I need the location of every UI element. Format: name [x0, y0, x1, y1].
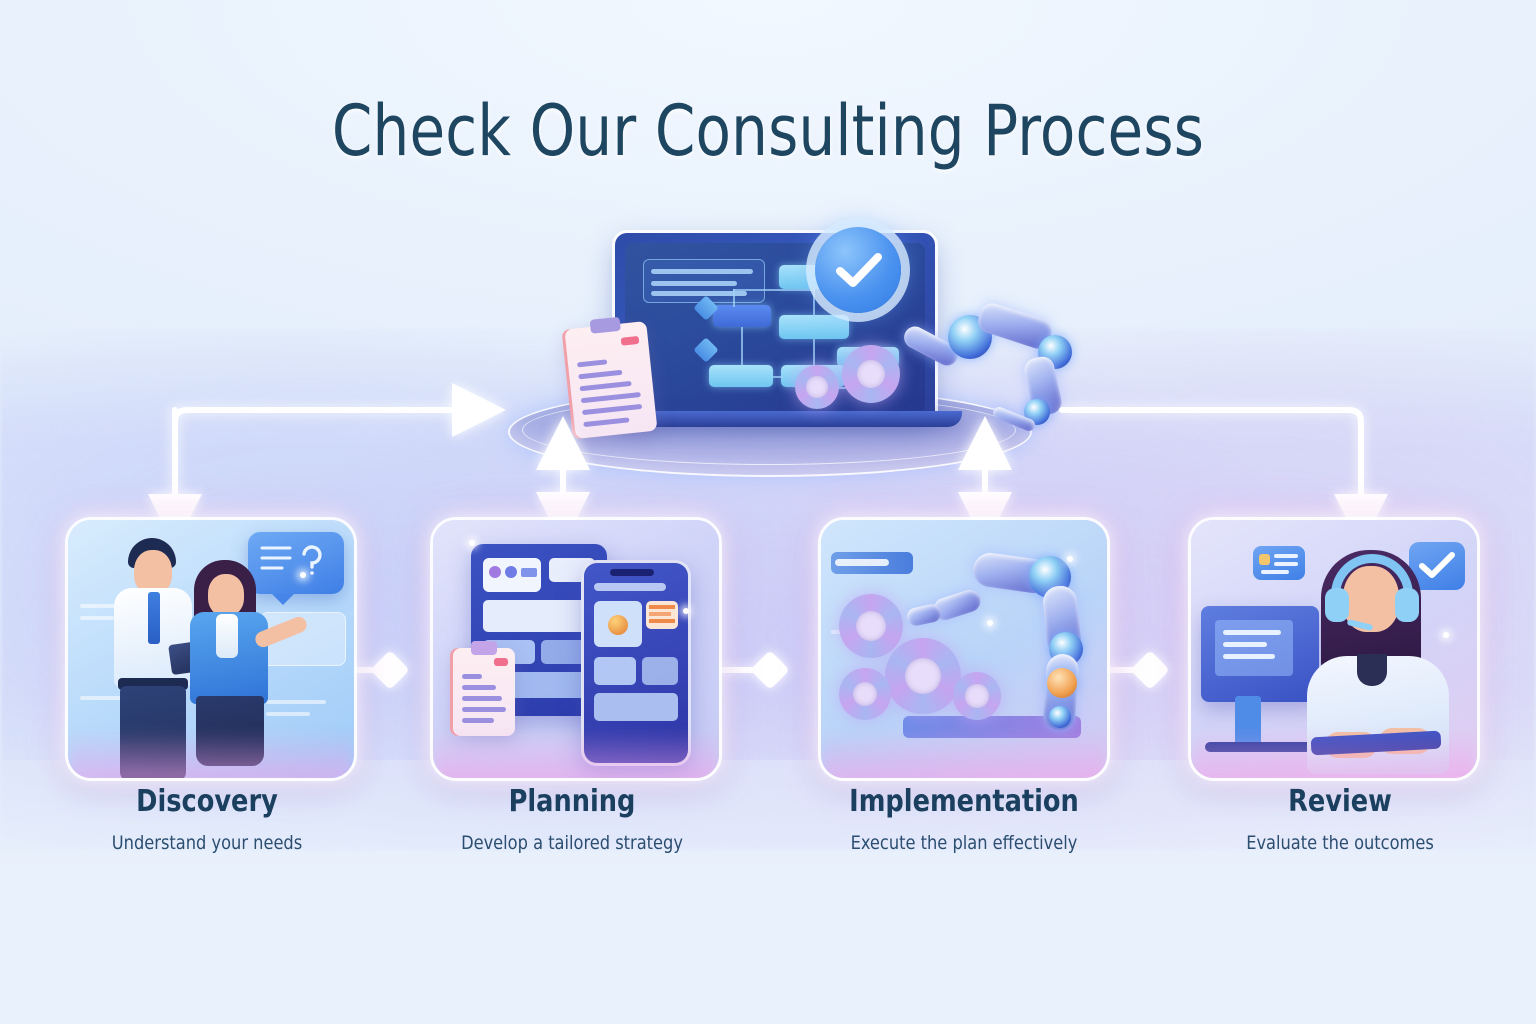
headset-earcup	[1325, 588, 1349, 622]
step-title: Discovery	[50, 785, 364, 818]
sparkle	[683, 608, 689, 614]
flowchart-node	[779, 315, 849, 339]
step-title: Review	[1183, 785, 1497, 818]
flowchart-node	[713, 305, 771, 327]
clipboard-line	[583, 417, 629, 427]
step-subtitle: Develop a tailored strategy	[415, 832, 729, 855]
step-title: Planning	[415, 785, 729, 818]
clipboard-line	[577, 359, 607, 367]
gear-icon	[839, 668, 891, 720]
check-icon	[815, 227, 901, 313]
card-bottom-glow	[68, 730, 354, 778]
clipboard-line	[578, 370, 622, 380]
step-label-review: Review Evaluate the outcomes	[1175, 785, 1505, 855]
sparkle	[1067, 556, 1073, 562]
robot-arm-icon	[921, 550, 1097, 730]
flowchart-link	[773, 376, 783, 378]
sparkle	[469, 540, 475, 546]
clipboard-line	[579, 381, 631, 391]
gear-icon	[795, 365, 839, 409]
deco-line	[80, 616, 114, 620]
flow-arrow-to-hero-left	[175, 410, 470, 515]
phone-row	[594, 693, 678, 721]
clipboard-line	[582, 404, 642, 415]
step-card-review[interactable]	[1188, 517, 1480, 781]
sparkle	[1443, 632, 1449, 638]
step-subtitle: Understand your needs	[50, 832, 364, 855]
flowchart-link	[741, 327, 743, 365]
headset-earcup	[1395, 588, 1419, 622]
flowchart-link	[813, 339, 815, 365]
step-label-planning: Planning Develop a tailored strategy	[407, 785, 737, 855]
flowchart-decision-node	[693, 337, 718, 362]
gear-icon	[839, 594, 903, 658]
robot-arm-icon	[900, 295, 1110, 445]
tablet-table	[483, 600, 593, 632]
infographic-canvas: Check Our Consulting Process	[0, 0, 1536, 1024]
step-labels-row: Discovery Understand your needs Planning…	[0, 785, 1536, 895]
step-label-discovery: Discovery Understand your needs	[42, 785, 372, 855]
step-subtitle: Execute the plan effectively	[807, 832, 1121, 855]
clipboard-tag	[621, 336, 640, 346]
phone-row	[642, 657, 678, 685]
clipboard-line	[581, 392, 641, 403]
clipboard-clip	[590, 317, 621, 334]
chat-bubble-icon	[1253, 546, 1305, 580]
flowchart-node	[709, 365, 773, 387]
flowchart-link	[733, 289, 815, 291]
process-steps-row	[0, 517, 1536, 777]
collar	[1357, 654, 1387, 686]
step-label-implementation: Implementation Execute the plan effectiv…	[799, 785, 1129, 855]
hero-illustration	[430, 215, 1110, 475]
clipboard-icon	[453, 648, 515, 736]
flowchart-text-bar	[651, 269, 753, 274]
step-subtitle: Evaluate the outcomes	[1183, 832, 1497, 855]
necktie	[148, 592, 160, 644]
phone-row	[594, 657, 636, 685]
card-bottom-glow	[1191, 730, 1477, 778]
phone-speaker	[610, 569, 654, 576]
page-title: Check Our Consulting Process	[61, 96, 1474, 166]
sparkle	[987, 620, 993, 626]
card-bottom-glow	[433, 730, 719, 778]
sparkle	[300, 572, 306, 578]
clipboard-icon	[564, 321, 657, 439]
flowchart-text-bar	[651, 281, 737, 286]
flowchart-link	[733, 289, 735, 307]
card-bottom-glow	[821, 730, 1107, 778]
blouse	[216, 614, 238, 658]
step-card-implementation[interactable]	[818, 517, 1110, 781]
step-title: Implementation	[807, 785, 1121, 818]
gear-icon	[842, 345, 900, 403]
monitor-icon	[1201, 606, 1319, 702]
step-card-discovery[interactable]	[65, 517, 357, 781]
flowchart-link	[813, 289, 815, 317]
step-card-planning[interactable]	[430, 517, 722, 781]
